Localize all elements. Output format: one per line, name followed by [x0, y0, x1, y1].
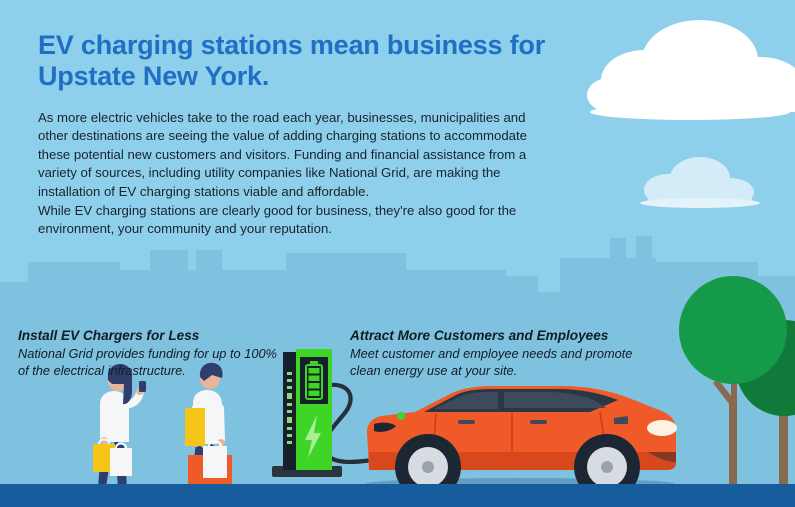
callout-install-chargers: Install EV Chargers for Less National Gr… [18, 327, 283, 379]
person-woman-shopper [93, 364, 146, 489]
intro-paragraph-2: While EV charging stations are clearly g… [38, 202, 548, 239]
intro-paragraph-1: As more electric vehicles take to the ro… [38, 109, 548, 201]
page-title: EV charging stations mean business for U… [38, 30, 558, 92]
shopping-bag-yellow-2 [185, 408, 205, 446]
charge-port-indicator [397, 412, 405, 420]
shopping-bag-white-2 [203, 442, 227, 479]
phone-icon [139, 381, 146, 392]
person-man-shopper [185, 363, 232, 489]
electric-car [365, 386, 677, 500]
ground-bar [0, 484, 795, 507]
callout-right-title: Attract More Customers and Employees [350, 327, 650, 344]
callout-left-title: Install EV Chargers for Less [18, 327, 283, 344]
ev-charging-infographic: EV charging stations mean business for U… [0, 0, 795, 507]
shopping-bag-white [110, 444, 132, 477]
callout-right-text: Meet customer and employee needs and pro… [350, 346, 650, 379]
callout-left-text: National Grid provides funding for up to… [18, 346, 283, 379]
callout-attract-customers: Attract More Customers and Employees Mee… [350, 327, 650, 379]
